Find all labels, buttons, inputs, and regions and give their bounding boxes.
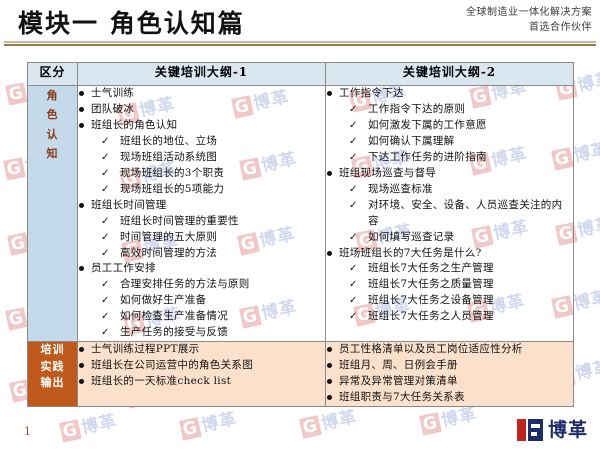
outline-item: 班组职责与7大任务关系表 xyxy=(326,390,573,406)
outline-item-label: 班组长的一天标准check list xyxy=(91,375,231,387)
bullet-dot-icon xyxy=(327,379,332,384)
outline-item-label: 班组长时间管理 xyxy=(91,199,167,211)
watermark-stamp: G博革 xyxy=(58,406,119,442)
column-header-outline-2: 关键培训大纲-2 xyxy=(326,63,574,86)
outline-sublist: ✓班组长7大任务之生产管理✓班组长7大任务之质量管理✓班组长7大任务之设备管理✓… xyxy=(339,261,573,325)
outline-subitem-label: 如何激发下属的工作意愿 xyxy=(368,119,487,131)
outline-subitem-label: 班组长时间管理的重要性 xyxy=(120,215,239,227)
outline-subitem: ✓现场班组活动系统图 xyxy=(91,150,325,166)
watermark-stamp: G博革 xyxy=(178,404,239,440)
outline-subitem: ✓如何激发下属的工作意愿 xyxy=(339,118,573,134)
division-label-char: 实践 xyxy=(28,359,77,376)
outline-subitem: ✓合理安排任务的方法与原则 xyxy=(91,277,325,293)
watermark-stamp: G博革 xyxy=(298,402,359,438)
outline-item: 班组长时间管理✓班组长时间管理的重要性✓时间管理的五大原则✓高效时间管理的方法 xyxy=(78,198,325,262)
outline-subitem-label: 班组长7大任务之生产管理 xyxy=(368,262,494,274)
outline-subitem: ✓班组长7大任务之生产管理 xyxy=(339,261,573,277)
bullet-dot-icon xyxy=(79,379,84,384)
check-icon: ✓ xyxy=(101,325,110,341)
outline-subitem: ✓班组长7大任务之人员管理 xyxy=(339,309,573,325)
outline-subitem: ✓班组长7大任务之设备管理 xyxy=(339,293,573,309)
bullet-dot-icon xyxy=(327,91,332,96)
check-icon: ✓ xyxy=(101,150,110,166)
outline-subitem-label: 高效时间管理的方法 xyxy=(120,247,217,259)
check-icon: ✓ xyxy=(349,309,358,325)
outline-subitem-label: 现场班组活动系统图 xyxy=(120,151,217,163)
outline-subitem: ✓现场巡查标准 xyxy=(339,182,573,198)
outline-item: 员工工作安排✓合理安排任务的方法与原则✓如何做好生产准备✓如何检查生产准备情况✓… xyxy=(78,261,325,341)
outline-item-label: 工作指令下达 xyxy=(339,87,404,99)
table-header-row: 区分 关键培训大纲-1 关键培训大纲-2 xyxy=(28,63,574,86)
outline-list: 工作指令下达✓工作指令下达的原则✓如何激发下属的工作意愿✓如何确认下属理解✓下达… xyxy=(326,86,573,325)
outline-subitem-label: 班组长7大任务之设备管理 xyxy=(368,294,494,306)
division-cell: 角色认知 xyxy=(28,86,78,342)
check-icon: ✓ xyxy=(349,102,358,118)
outline-item-label: 员工性格清单以及员工岗位适应性分析 xyxy=(339,343,523,355)
outline-cell-1: 士气训练团队破冰班组长的角色认知✓班组长的地位、立场✓现场班组活动系统图✓现场班… xyxy=(78,86,326,342)
outline-item-label: 团队破冰 xyxy=(91,103,134,115)
check-icon: ✓ xyxy=(101,246,110,262)
division-label-char: 知 xyxy=(28,144,77,163)
division-label-char: 色 xyxy=(28,105,77,124)
brand-name-label: 博革 xyxy=(548,421,588,440)
outline-item-label: 班组长的角色认知 xyxy=(91,119,177,131)
outline-list: 员工性格清单以及员工岗位适应性分析班组月、周、日例会手册异常及异常管理对策清单班… xyxy=(326,342,573,406)
outline-item: 班组月、周、日例会手册 xyxy=(326,358,573,374)
outline-subitem: ✓班组长的地位、立场 xyxy=(91,134,325,150)
page-number: 1 xyxy=(24,425,31,438)
bullet-dot-icon xyxy=(79,266,84,271)
outline-subitem: ✓对环境、安全、设备、人员巡查关注的内容 xyxy=(339,198,573,230)
outline-subitem: ✓下达工作任务的进阶指南 xyxy=(339,150,573,166)
division-label: 角色认知 xyxy=(28,86,77,163)
check-icon: ✓ xyxy=(349,261,358,277)
check-icon: ✓ xyxy=(101,214,110,230)
outline-subitem: ✓高效时间管理的方法 xyxy=(91,246,325,262)
outline-item: 班组长的角色认知✓班组长的地位、立场✓现场班组活动系统图✓现场班组长的3个职责✓… xyxy=(78,118,325,198)
brand-mark-icon xyxy=(517,419,543,441)
outline-sublist: ✓工作指令下达的原则✓如何激发下属的工作意愿✓如何确认下属理解✓下达工作任务的进… xyxy=(339,102,573,166)
outline-subitem-label: 生产任务的接受与反馈 xyxy=(120,326,228,338)
bullet-dot-icon xyxy=(79,203,84,208)
outline-item-label: 班组长在公司运营中的角色关系图 xyxy=(91,359,253,371)
slogan-line-1: 全球制造业一体化解决方案 xyxy=(466,6,592,21)
outline-subitem: ✓班组长7大任务之质量管理 xyxy=(339,277,573,293)
outline-subitem-label: 现场班组长的3个职责 xyxy=(120,167,224,179)
division-label-char: 培训 xyxy=(28,342,77,359)
outline-item-label: 员工工作安排 xyxy=(91,262,156,274)
outline-item: 班组长在公司运营中的角色关系图 xyxy=(78,358,325,374)
bullet-dot-icon xyxy=(327,171,332,176)
bullet-dot-icon xyxy=(327,363,332,368)
outline-subitem-label: 对环境、安全、设备、人员巡查关注的内容 xyxy=(368,199,562,227)
outline-subitem: ✓现场班组长的3个职责 xyxy=(91,166,325,182)
outline-subitem-label: 工作指令下达的原则 xyxy=(368,103,465,115)
curriculum-table-wrapper: 区分 关键培训大纲-1 关键培训大纲-2 角色认知士气训练团队破冰班组长的角色认… xyxy=(27,62,573,407)
outline-item: 班组现场巡查与督导✓现场巡查标准✓对环境、安全、设备、人员巡查关注的内容✓如何填… xyxy=(326,166,573,246)
bullet-dot-icon xyxy=(79,107,84,112)
outline-subitem: ✓现场班组长的5项能力 xyxy=(91,182,325,198)
brand-logo: 博革 xyxy=(517,419,588,441)
outline-subitem-label: 现场巡查标准 xyxy=(368,183,433,195)
check-icon: ✓ xyxy=(349,118,358,134)
check-icon: ✓ xyxy=(349,293,358,309)
outline-cell-2: 员工性格清单以及员工岗位适应性分析班组月、周、日例会手册异常及异常管理对策清单班… xyxy=(326,342,574,407)
outline-subitem: ✓如何做好生产准备 xyxy=(91,293,325,309)
outline-subitem-label: 现场班组长的5项能力 xyxy=(120,183,224,195)
outline-item: 班组长的一天标准check list xyxy=(78,374,325,390)
outline-item-label: 班组现场巡查与督导 xyxy=(339,167,436,179)
outline-subitem: ✓时间管理的五大原则 xyxy=(91,230,325,246)
outline-item: 员工性格清单以及员工岗位适应性分析 xyxy=(326,342,573,358)
outline-item-label: 班场班组长的7大任务是什么? xyxy=(339,247,482,259)
check-icon: ✓ xyxy=(349,277,358,293)
outline-subitem: ✓如何确认下属理解 xyxy=(339,134,573,150)
outline-sublist: ✓现场巡查标准✓对环境、安全、设备、人员巡查关注的内容✓如何填写巡查记录 xyxy=(339,182,573,246)
check-icon: ✓ xyxy=(349,230,358,246)
outline-item: 士气训练过程PPT展示 xyxy=(78,342,325,358)
bullet-dot-icon xyxy=(79,363,84,368)
outline-subitem-label: 班组长7大任务之人员管理 xyxy=(368,310,494,322)
check-icon: ✓ xyxy=(349,182,358,198)
company-slogan: 全球制造业一体化解决方案 首选合作伙伴 xyxy=(466,6,592,35)
check-icon: ✓ xyxy=(349,198,358,214)
slide-header: 模块一 角色认知篇 全球制造业一体化解决方案 首选合作伙伴 xyxy=(0,0,600,46)
division-cell: 培训实践输出 xyxy=(28,342,78,407)
outline-sublist: ✓班组长时间管理的重要性✓时间管理的五大原则✓高效时间管理的方法 xyxy=(91,214,325,262)
check-icon: ✓ xyxy=(349,150,358,166)
outline-list: 士气训练过程PPT展示班组长在公司运营中的角色关系图班组长的一天标准check … xyxy=(78,342,325,390)
curriculum-table: 区分 关键培训大纲-1 关键培训大纲-2 角色认知士气训练团队破冰班组长的角色认… xyxy=(27,62,574,407)
outline-subitem-label: 下达工作任务的进阶指南 xyxy=(368,151,487,163)
outline-cell-2: 工作指令下达✓工作指令下达的原则✓如何激发下属的工作意愿✓如何确认下属理解✓下达… xyxy=(326,86,574,342)
outline-item: 工作指令下达✓工作指令下达的原则✓如何激发下属的工作意愿✓如何确认下属理解✓下达… xyxy=(326,86,573,166)
division-label-char: 角 xyxy=(28,86,77,105)
bullet-dot-icon xyxy=(79,123,84,128)
outline-subitem-label: 时间管理的五大原则 xyxy=(120,231,217,243)
bullet-dot-icon xyxy=(79,347,84,352)
outline-sublist: ✓班组长的地位、立场✓现场班组活动系统图✓现场班组长的3个职责✓现场班组长的5项… xyxy=(91,134,325,198)
outline-subitem-label: 如何确认下属理解 xyxy=(368,135,454,147)
outline-subitem-label: 班组长的地位、立场 xyxy=(120,135,217,147)
outline-subitem: ✓工作指令下达的原则 xyxy=(339,102,573,118)
outline-cell-1: 士气训练过程PPT展示班组长在公司运营中的角色关系图班组长的一天标准check … xyxy=(78,342,326,407)
outline-item: 团队破冰 xyxy=(78,102,325,118)
bullet-dot-icon xyxy=(327,347,332,352)
check-icon: ✓ xyxy=(349,134,358,150)
outline-item-label: 班组月、周、日例会手册 xyxy=(339,359,458,371)
check-icon: ✓ xyxy=(101,293,110,309)
bullet-dot-icon xyxy=(327,251,332,256)
table-row: 角色认知士气训练团队破冰班组长的角色认知✓班组长的地位、立场✓现场班组活动系统图… xyxy=(28,86,574,342)
outline-list: 士气训练团队破冰班组长的角色认知✓班组长的地位、立场✓现场班组活动系统图✓现场班… xyxy=(78,86,325,341)
check-icon: ✓ xyxy=(101,166,110,182)
outline-item-label: 士气训练过程PPT展示 xyxy=(91,343,199,355)
outline-item: 班场班组长的7大任务是什么?✓班组长7大任务之生产管理✓班组长7大任务之质量管理… xyxy=(326,246,573,326)
outline-subitem: ✓生产任务的接受与反馈 xyxy=(91,325,325,341)
check-icon: ✓ xyxy=(101,277,110,293)
outline-sublist: ✓合理安排任务的方法与原则✓如何做好生产准备✓如何检查生产准备情况✓生产任务的接… xyxy=(91,277,325,341)
outline-item-label: 班组职责与7大任务关系表 xyxy=(339,391,465,403)
outline-subitem-label: 如何检查生产准备情况 xyxy=(120,310,228,322)
outline-subitem-label: 合理安排任务的方法与原则 xyxy=(120,278,250,290)
check-icon: ✓ xyxy=(101,230,110,246)
outline-subitem-label: 如何做好生产准备 xyxy=(120,294,206,306)
division-label-char: 输出 xyxy=(28,375,77,392)
outline-item: 异常及异常管理对策清单 xyxy=(326,374,573,390)
slogan-line-2: 首选合作伙伴 xyxy=(466,21,592,36)
divider-line-bottom xyxy=(4,44,596,46)
division-label-char: 认 xyxy=(28,125,77,144)
outline-subitem: ✓如何检查生产准备情况 xyxy=(91,309,325,325)
outline-item: 士气训练 xyxy=(78,86,325,102)
check-icon: ✓ xyxy=(101,134,110,150)
outline-subitem: ✓如何填写巡查记录 xyxy=(339,230,573,246)
table-body: 角色认知士气训练团队破冰班组长的角色认知✓班组长的地位、立场✓现场班组活动系统图… xyxy=(28,86,574,407)
outline-subitem: ✓班组长时间管理的重要性 xyxy=(91,214,325,230)
check-icon: ✓ xyxy=(101,182,110,198)
outline-subitem-label: 如何填写巡查记录 xyxy=(368,231,454,243)
outline-subitem-label: 班组长7大任务之质量管理 xyxy=(368,278,494,290)
division-label: 培训实践输出 xyxy=(28,342,77,392)
header-divider xyxy=(4,41,596,46)
table-row: 培训实践输出士气训练过程PPT展示班组长在公司运营中的角色关系图班组长的一天标准… xyxy=(28,342,574,407)
column-header-outline-1: 关键培训大纲-1 xyxy=(78,63,326,86)
check-icon: ✓ xyxy=(101,309,110,325)
bullet-dot-icon xyxy=(79,91,84,96)
bullet-dot-icon xyxy=(327,395,332,400)
outline-item-label: 士气训练 xyxy=(91,87,134,99)
column-header-division: 区分 xyxy=(28,63,78,86)
page-title: 模块一 角色认知篇 xyxy=(18,4,245,40)
outline-item-label: 异常及异常管理对策清单 xyxy=(339,375,458,387)
